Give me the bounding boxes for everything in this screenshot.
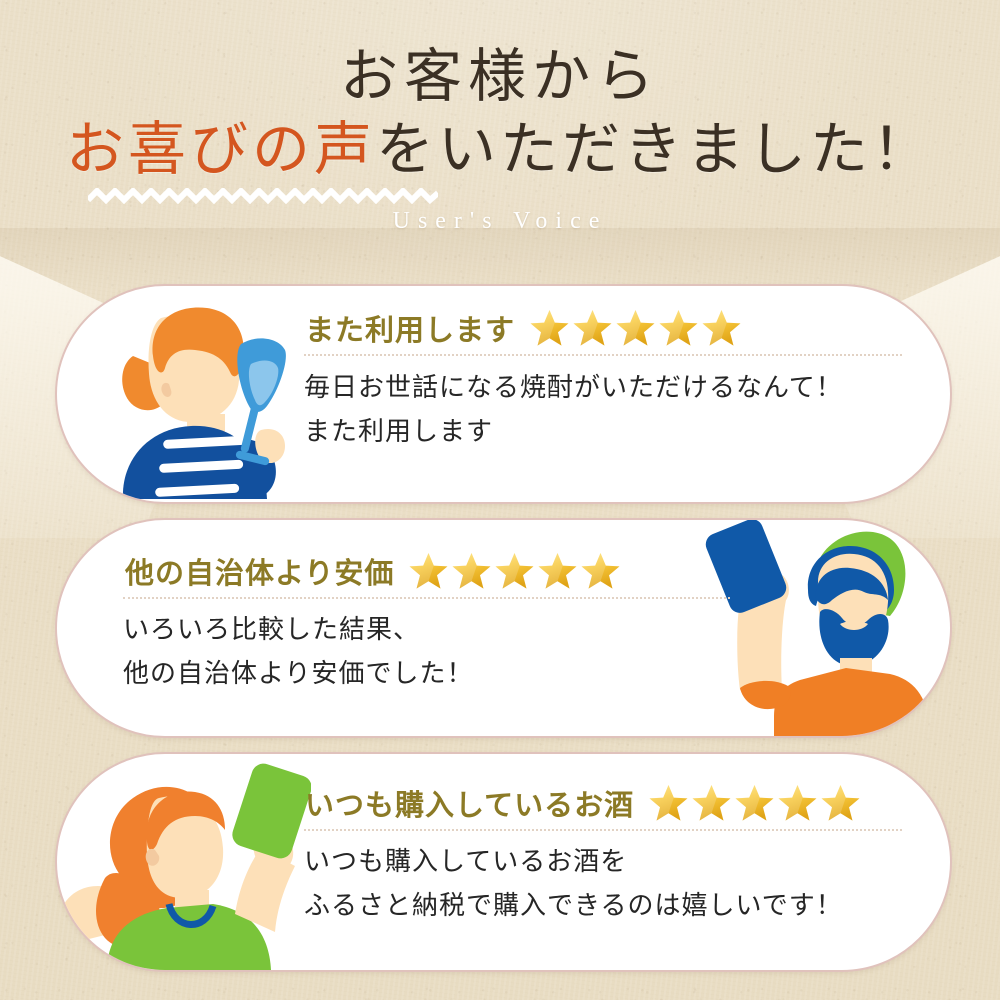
star-icon [701,308,742,348]
review-card-body: 他の自治体より安価 いろいろ比較した結果、 他の自治体より安価でした！ [57,520,950,736]
star-icon [734,783,775,823]
rating-stars [408,551,621,591]
star-icon [408,551,449,591]
review-card[interactable]: 他の自治体より安価 いろいろ比較した結果、 他の自治体より安価でした！ [55,518,952,738]
star-icon [658,308,699,348]
user-voice-page: お客様から お喜びの声をいただきました！ User's Voice [0,0,1000,1000]
review-headline: 他の自治体より安価 [125,550,394,592]
rating-stars [529,308,742,348]
review-body-line: いろいろ比較した結果、 [123,608,473,652]
star-icon [580,551,621,591]
review-card[interactable]: いつも購入しているお酒 いつも購入しているお酒を ふるさと納税で購入できるのは嬉… [55,752,952,972]
star-icon [529,308,570,348]
star-icon [820,783,861,823]
review-divider [304,354,902,356]
star-icon [615,308,656,348]
review-headline-row: また利用します [305,307,742,349]
woman-with-phone-icon [63,758,311,970]
review-body: いろいろ比較した結果、 他の自治体より安価でした！ [123,608,473,696]
page-title-accent: お喜びの声 [66,117,376,182]
star-icon [494,551,535,591]
review-body-line: いつも購入しているお酒を [304,840,843,884]
review-headline-row: 他の自治体より安価 [125,550,621,592]
star-icon [777,783,818,823]
review-headline-row: いつも購入しているお酒 [305,782,861,824]
page-title-line-2: お喜びの声をいただきました！ [66,118,934,182]
review-body-line: 毎日お世話になる焼酎がいただけるなんて！ [304,366,843,410]
review-body: いつも購入しているお酒を ふるさと納税で購入できるのは嬉しいです！ [304,840,843,928]
woman-with-champagne-glass-icon [75,294,307,499]
review-divider [123,597,730,599]
review-card-body: いつも購入しているお酒 いつも購入しているお酒を ふるさと納税で購入できるのは嬉… [57,754,950,970]
review-headline: また利用します [305,307,515,349]
star-icon [451,551,492,591]
star-icon [691,783,732,823]
star-icon [537,551,578,591]
bearded-man-with-phone-icon [690,520,940,736]
review-divider [304,829,902,831]
review-body-line: 他の自治体より安価でした！ [123,652,473,696]
rating-stars [648,783,861,823]
review-body-line: ふるさと納税で購入できるのは嬉しいです！ [304,884,843,928]
review-body: 毎日お世話になる焼酎がいただけるなんて！ また利用します [304,366,843,454]
review-body-line: また利用します [304,410,843,454]
review-card-body: また利用します 毎日お世話になる焼酎がいただけるなんて！ また利用します [57,286,950,502]
background-shade-band [0,228,1000,292]
review-card[interactable]: また利用します 毎日お世話になる焼酎がいただけるなんて！ また利用します [55,284,952,504]
review-headline: いつも購入しているお酒 [305,782,634,824]
page-title-line-1: お客様から [0,46,1000,108]
page-title-rest: をいただきました！ [376,117,934,182]
page-subtitle: User's Voice [0,208,1000,235]
star-icon [648,783,689,823]
zigzag-underline-decoration [88,188,438,204]
star-icon [572,308,613,348]
